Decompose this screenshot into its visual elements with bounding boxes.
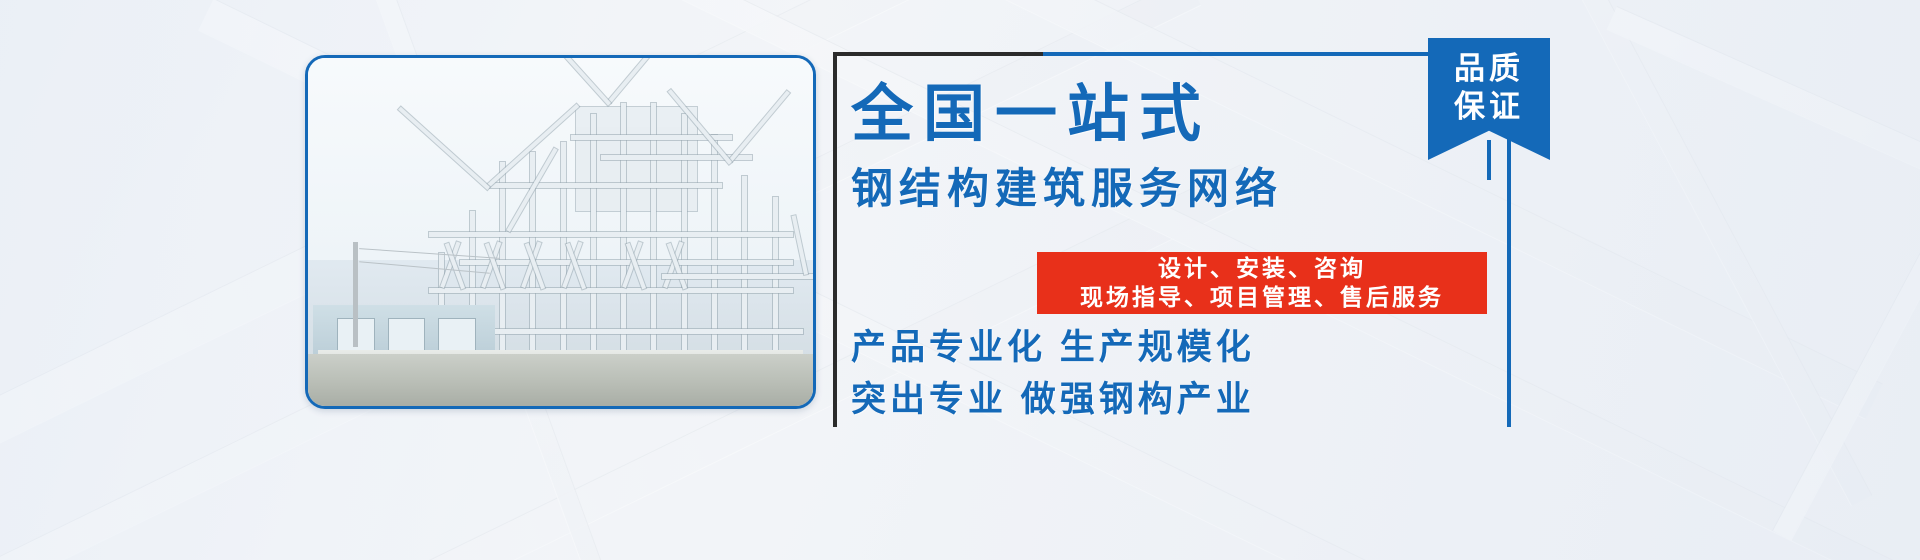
photo-steel-beam — [429, 232, 793, 237]
project-photo-card — [305, 55, 816, 409]
slogan-line-1: 产品专业化 生产规模化 — [851, 330, 1511, 365]
project-photo — [308, 58, 813, 406]
photo-roof-rafter — [608, 58, 707, 103]
photo-roof-rafter — [501, 58, 611, 106]
photo-steel-stud — [500, 162, 505, 378]
promo-text-content: 全国一站式 钢结构建筑服务网络 设计、安装、咨询 现场指导、项目管理、售后服务 … — [837, 56, 1507, 427]
photo-roof-rafter — [729, 91, 790, 163]
slogan-line-2: 突出专业 做强钢构产业 — [851, 382, 1511, 417]
photo-canopy-rafter — [792, 215, 808, 275]
photo-steel-stud — [712, 135, 717, 379]
services-line-2: 现场指导、项目管理、售后服务 — [1080, 283, 1444, 312]
badge-line-1: 品质 — [1454, 50, 1524, 88]
photo-steel-beam — [490, 183, 722, 188]
photo-steel-stud — [651, 103, 656, 378]
headline: 全国一站式 — [851, 84, 1411, 146]
photo-steel-beam — [429, 288, 793, 293]
photo-steel-stud — [682, 114, 687, 378]
photo-steel-beam — [460, 260, 793, 265]
promo-banner: 全国一站式 钢结构建筑服务网络 设计、安装、咨询 现场指导、项目管理、售后服务 … — [0, 0, 1920, 560]
services-line-1: 设计、安装、咨询 — [1158, 254, 1366, 283]
photo-steel-stud — [621, 103, 626, 378]
promo-text-frame: 全国一站式 钢结构建筑服务网络 设计、安装、咨询 现场指导、项目管理、售后服务 … — [833, 52, 1511, 427]
photo-steel-stud — [591, 114, 596, 378]
photo-ground — [308, 354, 813, 406]
photo-utility-pole — [353, 242, 358, 346]
badge-line-2: 保证 — [1454, 88, 1524, 126]
subheadline: 钢结构建筑服务网络 — [851, 168, 1491, 210]
services-highlight-box: 设计、安装、咨询 现场指导、项目管理、售后服务 — [1037, 252, 1487, 314]
photo-canopy-beam — [662, 274, 814, 279]
badge-ribbon-stem — [1487, 140, 1491, 180]
photo-roof-rafter — [398, 106, 490, 189]
